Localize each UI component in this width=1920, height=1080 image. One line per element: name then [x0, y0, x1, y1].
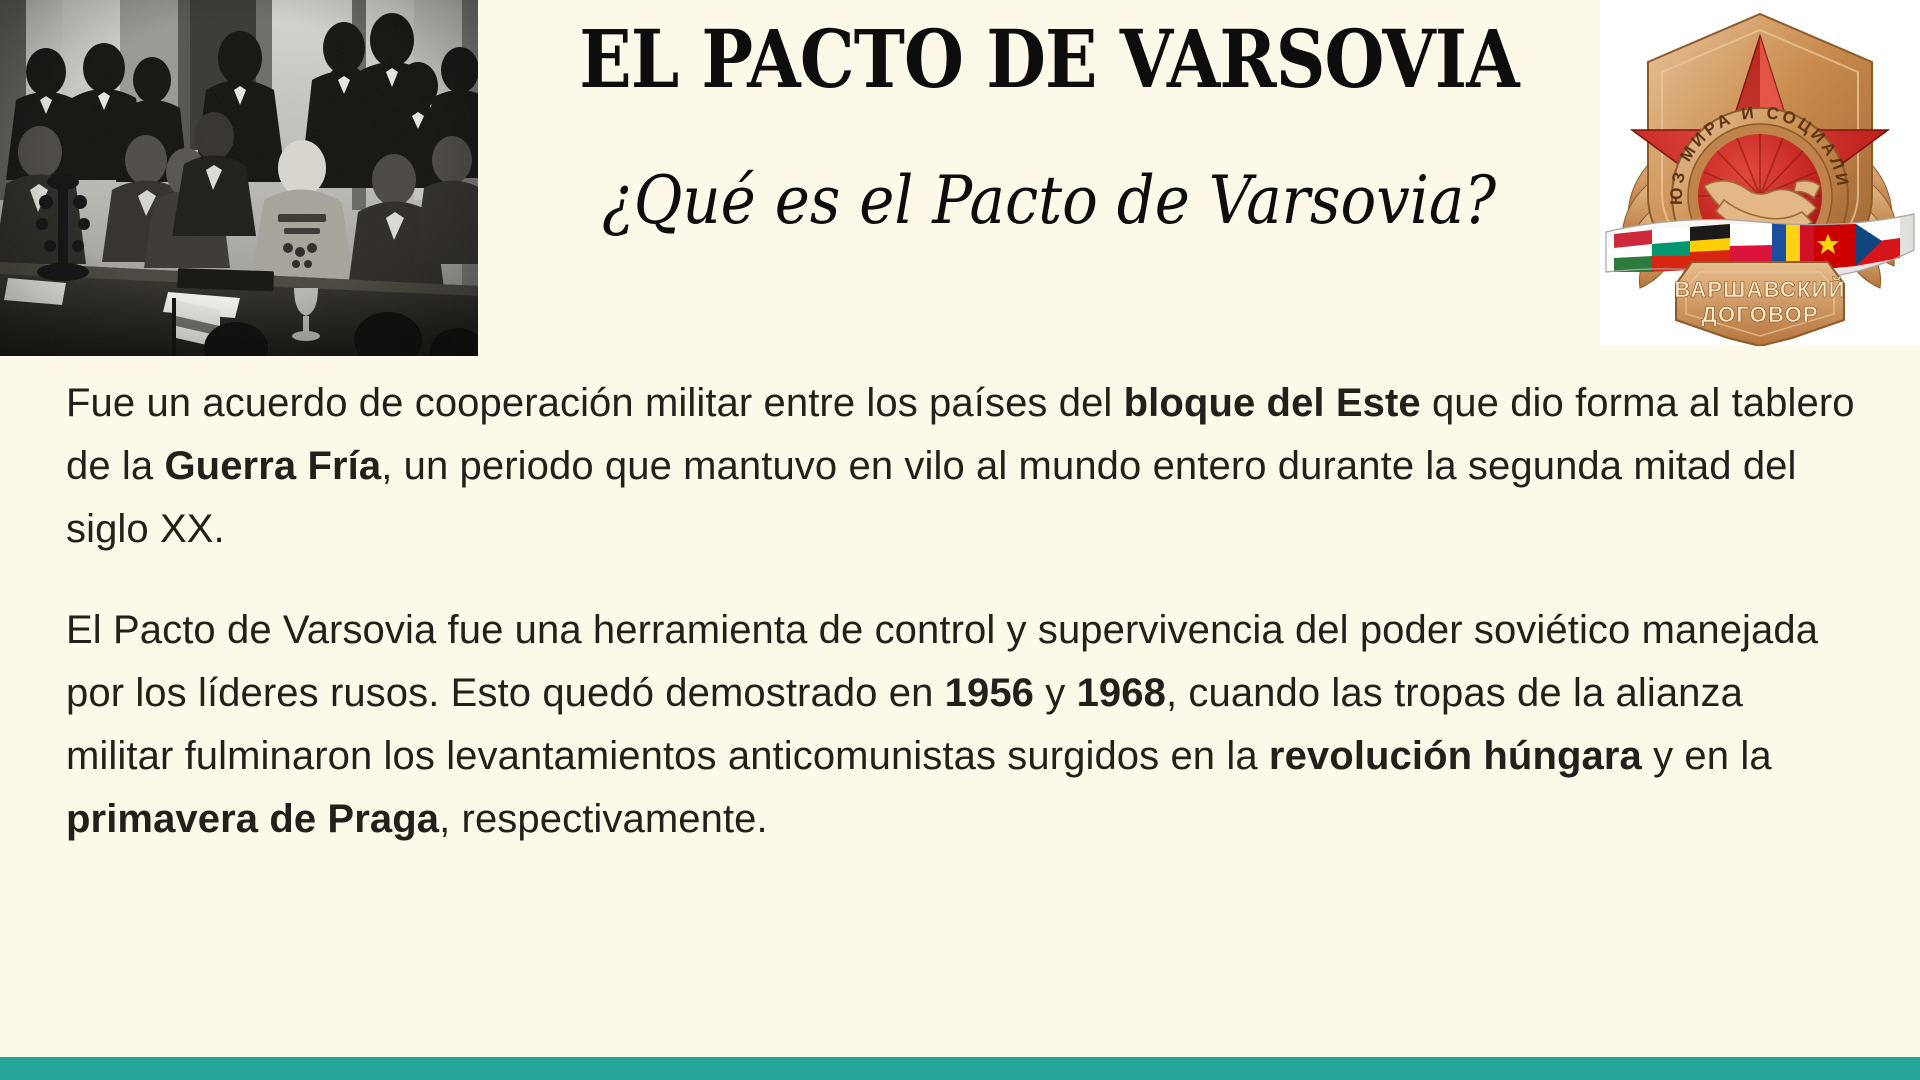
body-text: Fue un acuerdo de cooperación militar en…: [66, 381, 1124, 425]
emphasis-text: revolución húngara: [1269, 734, 1642, 778]
photo-illustration: [0, 0, 478, 356]
page-subtitle: ¿Qué es el Pacto de Varsovia?: [535, 160, 1563, 242]
emphasis-text: 1968: [1077, 671, 1166, 715]
title-block: EL PACTO DE VARSOVIA ¿Qué es el Pacto de…: [478, 0, 1600, 356]
historical-photo: [0, 0, 478, 356]
bottom-accent-bar: [0, 1057, 1920, 1080]
emblem-icon: СОЮЗ МИРА И СОЦИАЛИЗМА: [1600, 0, 1920, 346]
body-paragraph-2: El Pacto de Varsovia fue una herramienta…: [66, 599, 1856, 851]
emphasis-text: Guerra Fría: [164, 444, 381, 488]
warsaw-pact-emblem: СОЮЗ МИРА И СОЦИАЛИЗМА: [1600, 0, 1920, 346]
presentation-slide: EL PACTO DE VARSOVIA ¿Qué es el Pacto de…: [0, 0, 1920, 1080]
emphasis-text: 1956: [945, 671, 1034, 715]
body-text: y: [1034, 671, 1077, 715]
slide-header-band: EL PACTO DE VARSOVIA ¿Qué es el Pacto de…: [0, 0, 1920, 356]
emphasis-text: primavera de Praga: [66, 797, 439, 841]
page-title: EL PACTO DE VARSOVIA: [558, 12, 1540, 106]
emblem-banner-line1: ВАРШАВСКИЙ: [1674, 277, 1845, 302]
body-text: y en la: [1642, 734, 1772, 778]
body-text: , respectivamente.: [439, 797, 768, 841]
emphasis-text: bloque del Este: [1124, 381, 1421, 425]
emblem-banner-line2: ДОГОВОР: [1701, 302, 1819, 327]
body-paragraph-1: Fue un acuerdo de cooperación militar en…: [66, 372, 1856, 561]
body-copy: Fue un acuerdo de cooperación militar en…: [66, 372, 1856, 889]
